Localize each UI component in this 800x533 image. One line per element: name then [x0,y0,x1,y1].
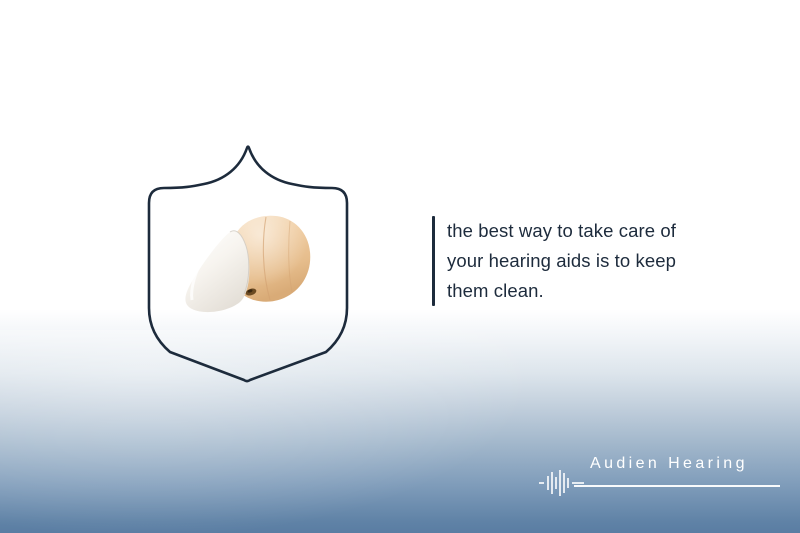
sound-wave-icon [538,469,586,497]
quote-block: the best way to take care of your hearin… [432,216,722,306]
promo-image-canvas: the best way to take care of your hearin… [0,0,800,533]
device-dome [185,231,249,312]
hearing-aid-device [170,210,320,325]
brand-logo: Audien Hearing [538,455,780,505]
quote-text: the best way to take care of your hearin… [435,216,676,306]
brand-name: Audien Hearing [590,455,748,473]
brand-underline [574,485,780,487]
